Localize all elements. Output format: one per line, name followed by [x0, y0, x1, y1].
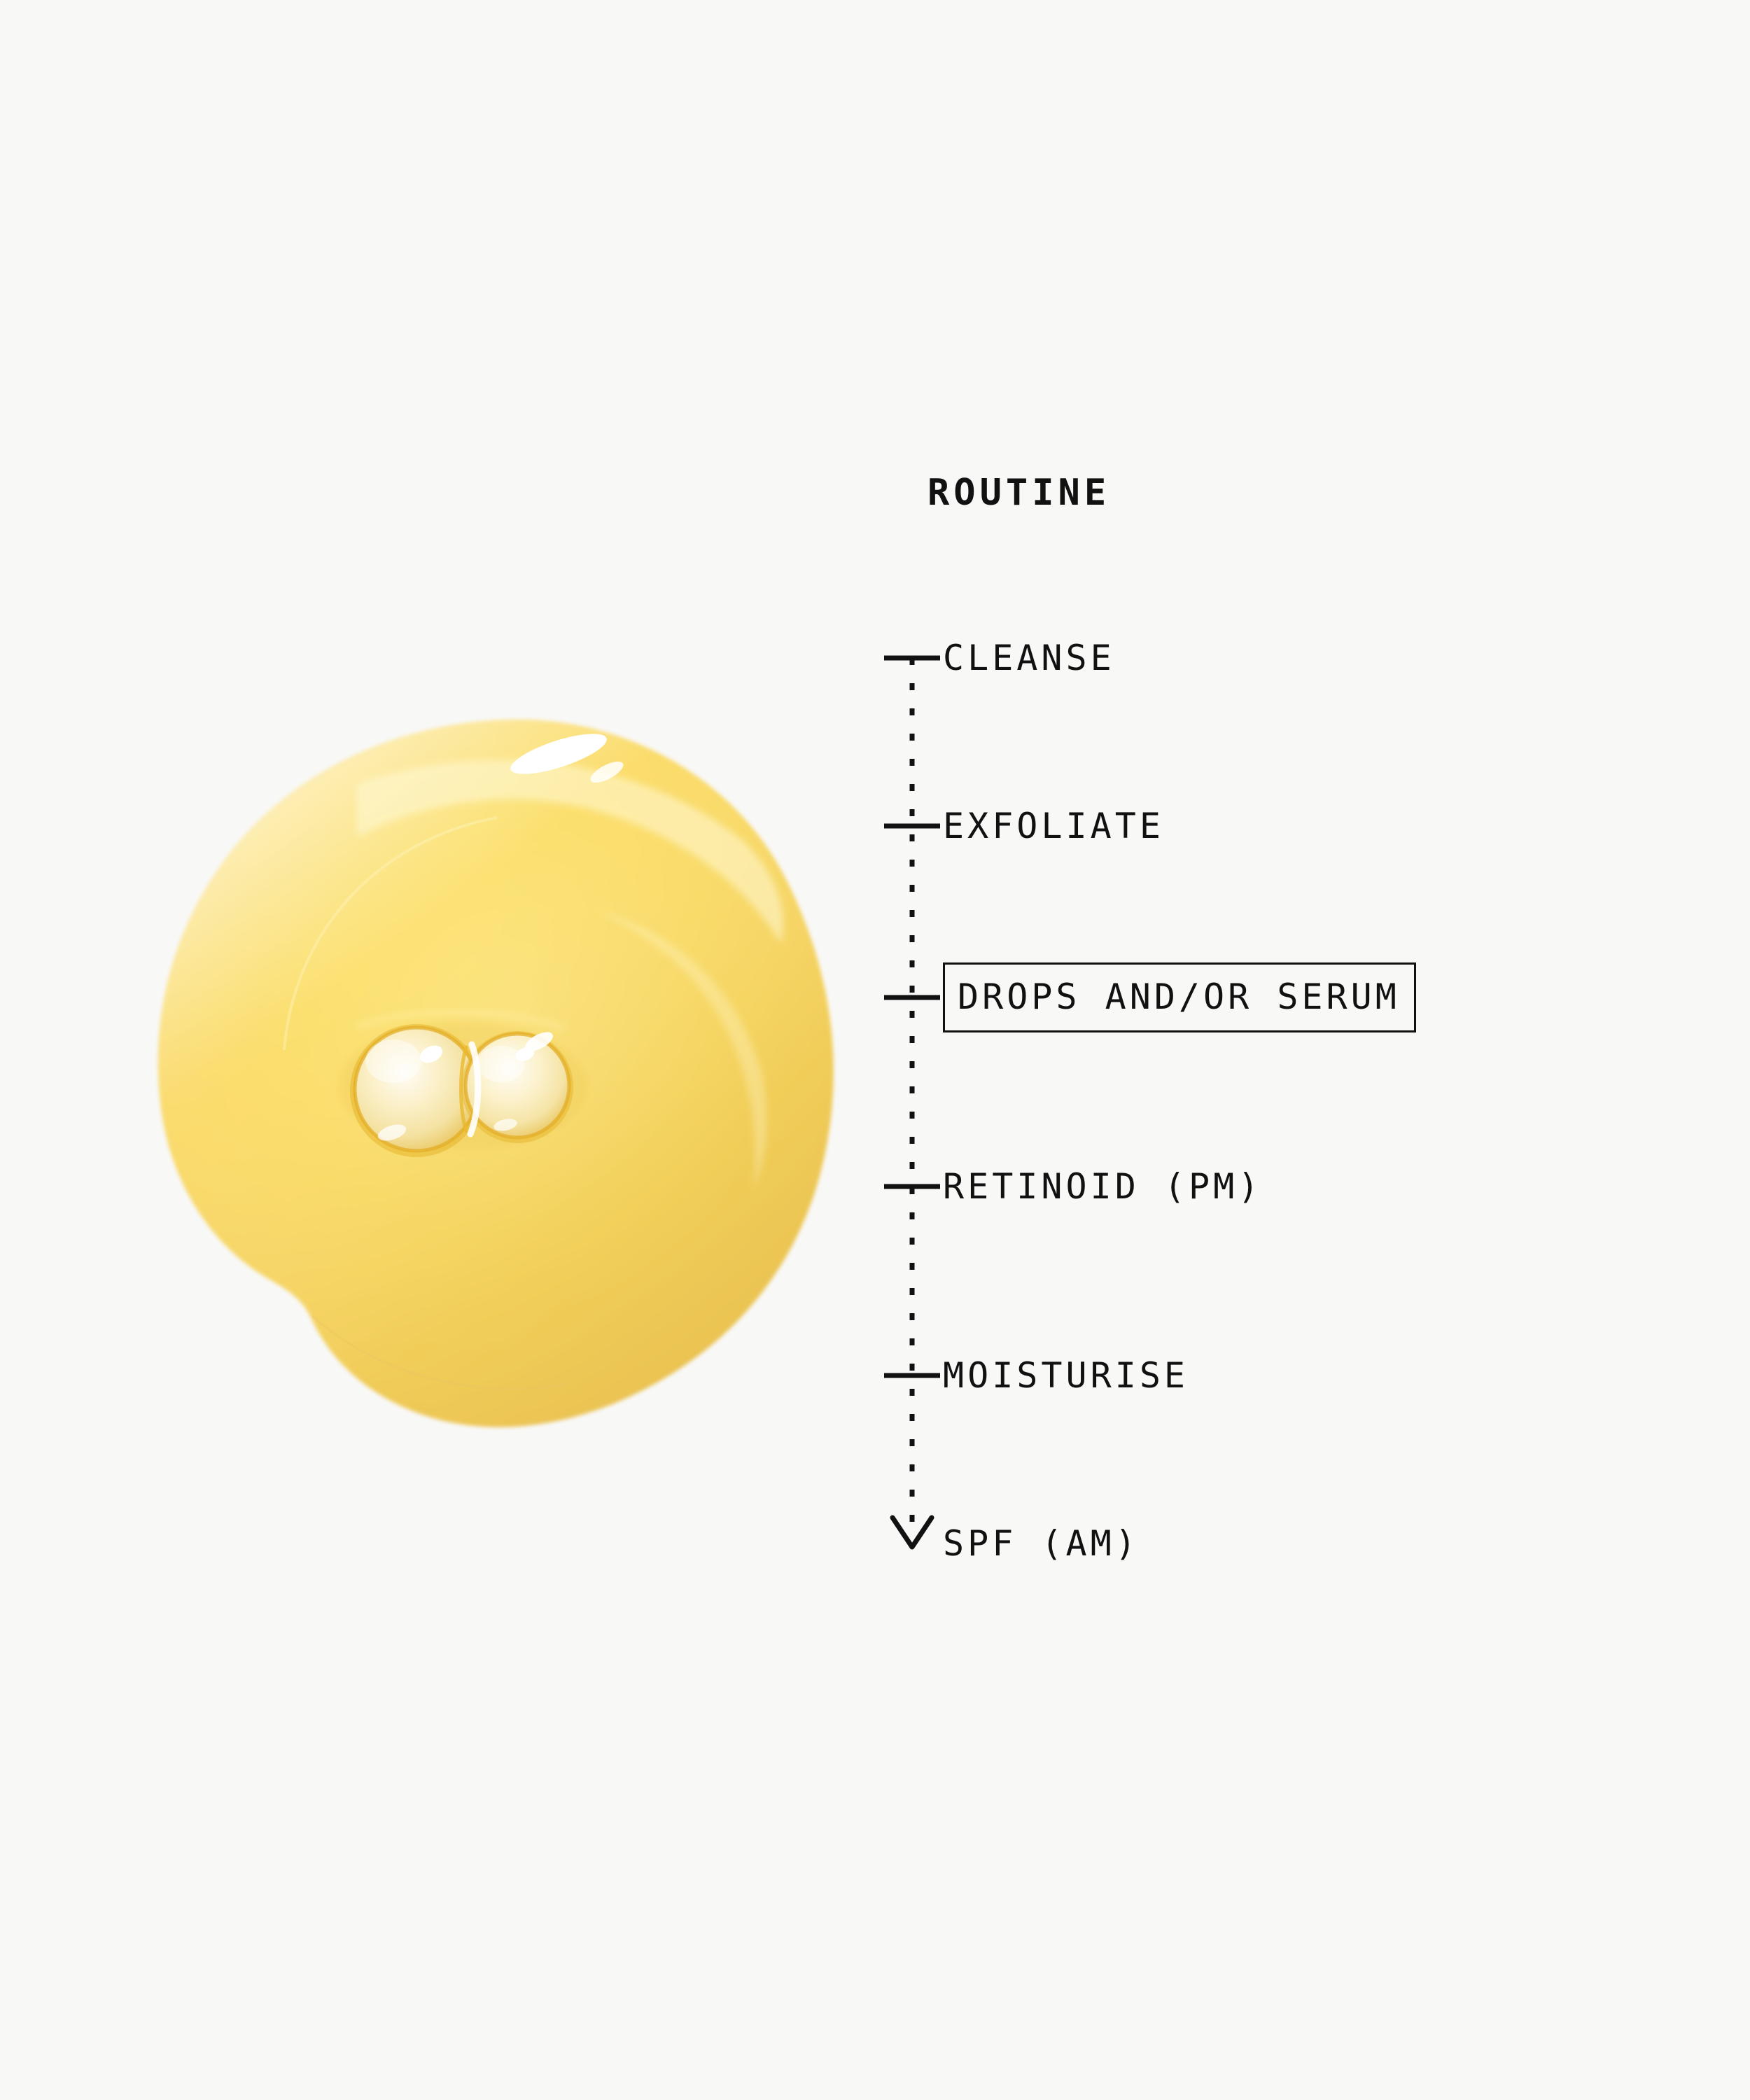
- routine-step-label-highlighted: DROPS AND/OR SERUM: [943, 962, 1416, 1032]
- routine-step-label: CLEANSE: [943, 640, 1115, 675]
- serum-drop-swatch: [147, 700, 854, 1477]
- routine-step-spf-am[interactable]: SPF (AM): [878, 1510, 1662, 1577]
- routine-step-label: MOISTURISE: [943, 1358, 1189, 1393]
- poster-canvas: ROUTINE CLEANSE EXFOLIATE: [0, 0, 1750, 2100]
- routine-step-exfoliate[interactable]: EXFOLIATE: [878, 792, 1662, 860]
- routine-step-cleanse[interactable]: CLEANSE: [878, 624, 1662, 692]
- routine-step-retinoid-pm[interactable]: RETINOID (PM): [878, 1153, 1662, 1220]
- routine-panel: ROUTINE CLEANSE EXFOLIATE: [878, 448, 1662, 1652]
- routine-step-list: CLEANSE EXFOLIATE DROPS AND/OR SERUM RET…: [878, 448, 1662, 1652]
- routine-step-label: RETINOID (PM): [943, 1169, 1262, 1204]
- routine-step-label: EXFOLIATE: [943, 808, 1164, 843]
- routine-step-drops-and-or-serum[interactable]: DROPS AND/OR SERUM: [878, 964, 1662, 1031]
- routine-step-label: SPF (AM): [943, 1526, 1140, 1561]
- routine-step-moisturise[interactable]: MOISTURISE: [878, 1342, 1662, 1409]
